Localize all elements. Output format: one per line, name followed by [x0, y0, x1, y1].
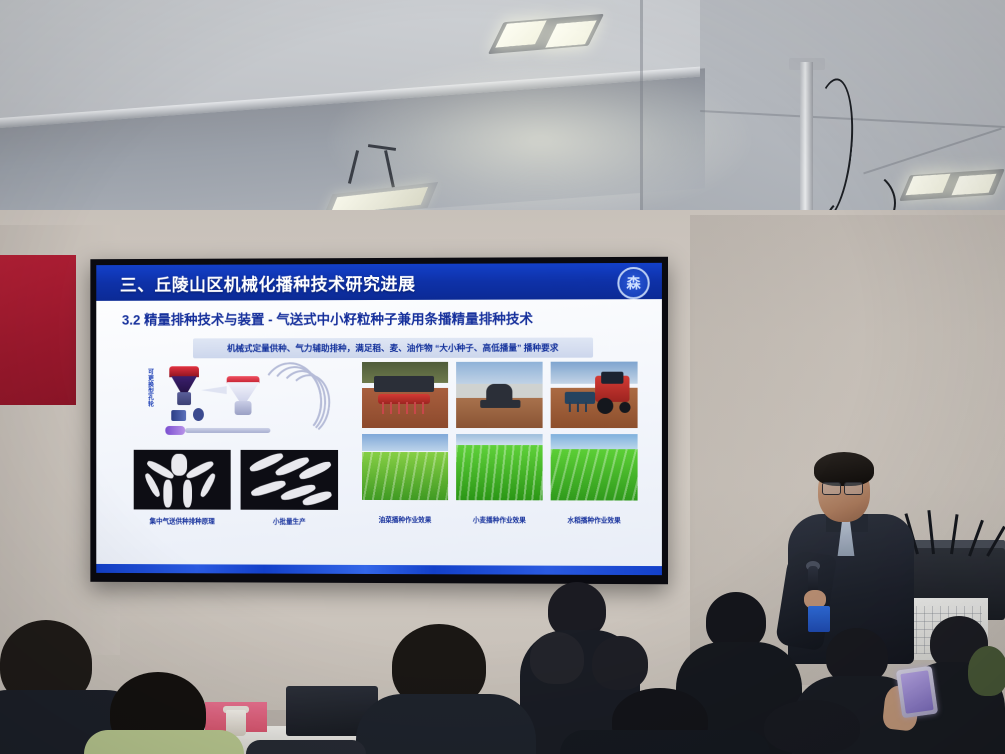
presenter-glasses-right: [844, 482, 863, 495]
slide-highlight-note: 机械式定量供种、气力辅助排种，满足稻、麦、油作物 “大小种子、高低播量” 播种要…: [193, 338, 593, 359]
photo-seeder-yard: [456, 362, 542, 428]
university-logo-icon: 森: [617, 267, 649, 299]
diagram-hopper2-cone: [227, 382, 260, 402]
caption-principle: 集中气送供种排种原理: [124, 515, 241, 525]
diagram-flow-arrow-icon: [201, 386, 227, 394]
audience-head: [764, 700, 860, 754]
diagram-hopper2-top: [227, 376, 260, 383]
diagram-hopper-red-top: [169, 366, 199, 377]
photo-manifold: [134, 450, 231, 510]
slide-footer-bar: [96, 564, 662, 575]
audience-shoulders: [560, 730, 770, 754]
caption-production: 小批量生产: [247, 516, 333, 526]
caption-wheat: 小麦播种作业效果: [446, 514, 553, 524]
audience-head: [968, 646, 1005, 696]
diagram-metering-unit: [177, 392, 191, 405]
slide-title: 三、丘陵山区机械化播种技术研究进展: [120, 269, 416, 295]
university-logo-glyph: 森: [626, 276, 640, 290]
diagram-hopper-cone: [171, 376, 197, 393]
red-wall-banner: [0, 255, 76, 405]
wall-display[interactable]: 三、丘陵山区机械化播种技术研究进展 森 3.2 精量排种技术与装置 - 气送式中…: [90, 257, 668, 584]
photo-seeder-red-soil: [362, 362, 448, 428]
presenter-badge: [808, 606, 830, 632]
photo-tractor-red: [551, 362, 638, 428]
presentation-slide: 三、丘陵山区机械化播种技术研究进展 森 3.2 精量排种技术与装置 - 气送式中…: [96, 263, 662, 575]
caption-rapeseed: 油菜播种作业效果: [352, 514, 458, 524]
seeding-principle-diagram: 可更换型孔轮: [136, 364, 339, 438]
diagram-blower: [165, 426, 185, 435]
audience-head: [530, 632, 584, 684]
caption-rice: 水稻播种作业效果: [541, 514, 648, 524]
slide-highlight-note-text: 机械式定量供种、气力辅助排种，满足稻、麦、油作物 “大小种子、高低播量” 播种要…: [227, 342, 558, 355]
audience-shoulders: [356, 694, 536, 754]
diagram-motor: [171, 410, 186, 421]
photo-rapeseed-field: [362, 434, 448, 500]
photo-rice-field: [551, 434, 638, 500]
audience-shoulders: [246, 740, 366, 754]
photo-wheat-field: [456, 434, 542, 500]
presenter-hair: [814, 452, 874, 486]
smartphone-screen[interactable]: [900, 670, 933, 714]
slide-subtitle: 3.2 精量排种技术与装置 - 气送式中小籽粒种子兼用条播精量排种技术: [122, 308, 533, 329]
photo-parts: [241, 450, 338, 510]
diagram-distributor: [235, 401, 252, 415]
audience-head: [592, 636, 648, 690]
diagram-air-duct: [185, 428, 270, 433]
lecture-hall-photo: 三、丘陵山区机械化播种技术研究进展 森 3.2 精量排种技术与装置 - 气送式中…: [0, 0, 1005, 754]
audience-shoulders: [84, 730, 244, 754]
slide-title-bar: 三、丘陵山区机械化播种技术研究进展 森: [96, 263, 662, 301]
diagram-gear: [193, 408, 204, 421]
presenter-glasses-left: [822, 482, 841, 495]
diagram-label: 可更换型孔轮: [142, 368, 153, 407]
